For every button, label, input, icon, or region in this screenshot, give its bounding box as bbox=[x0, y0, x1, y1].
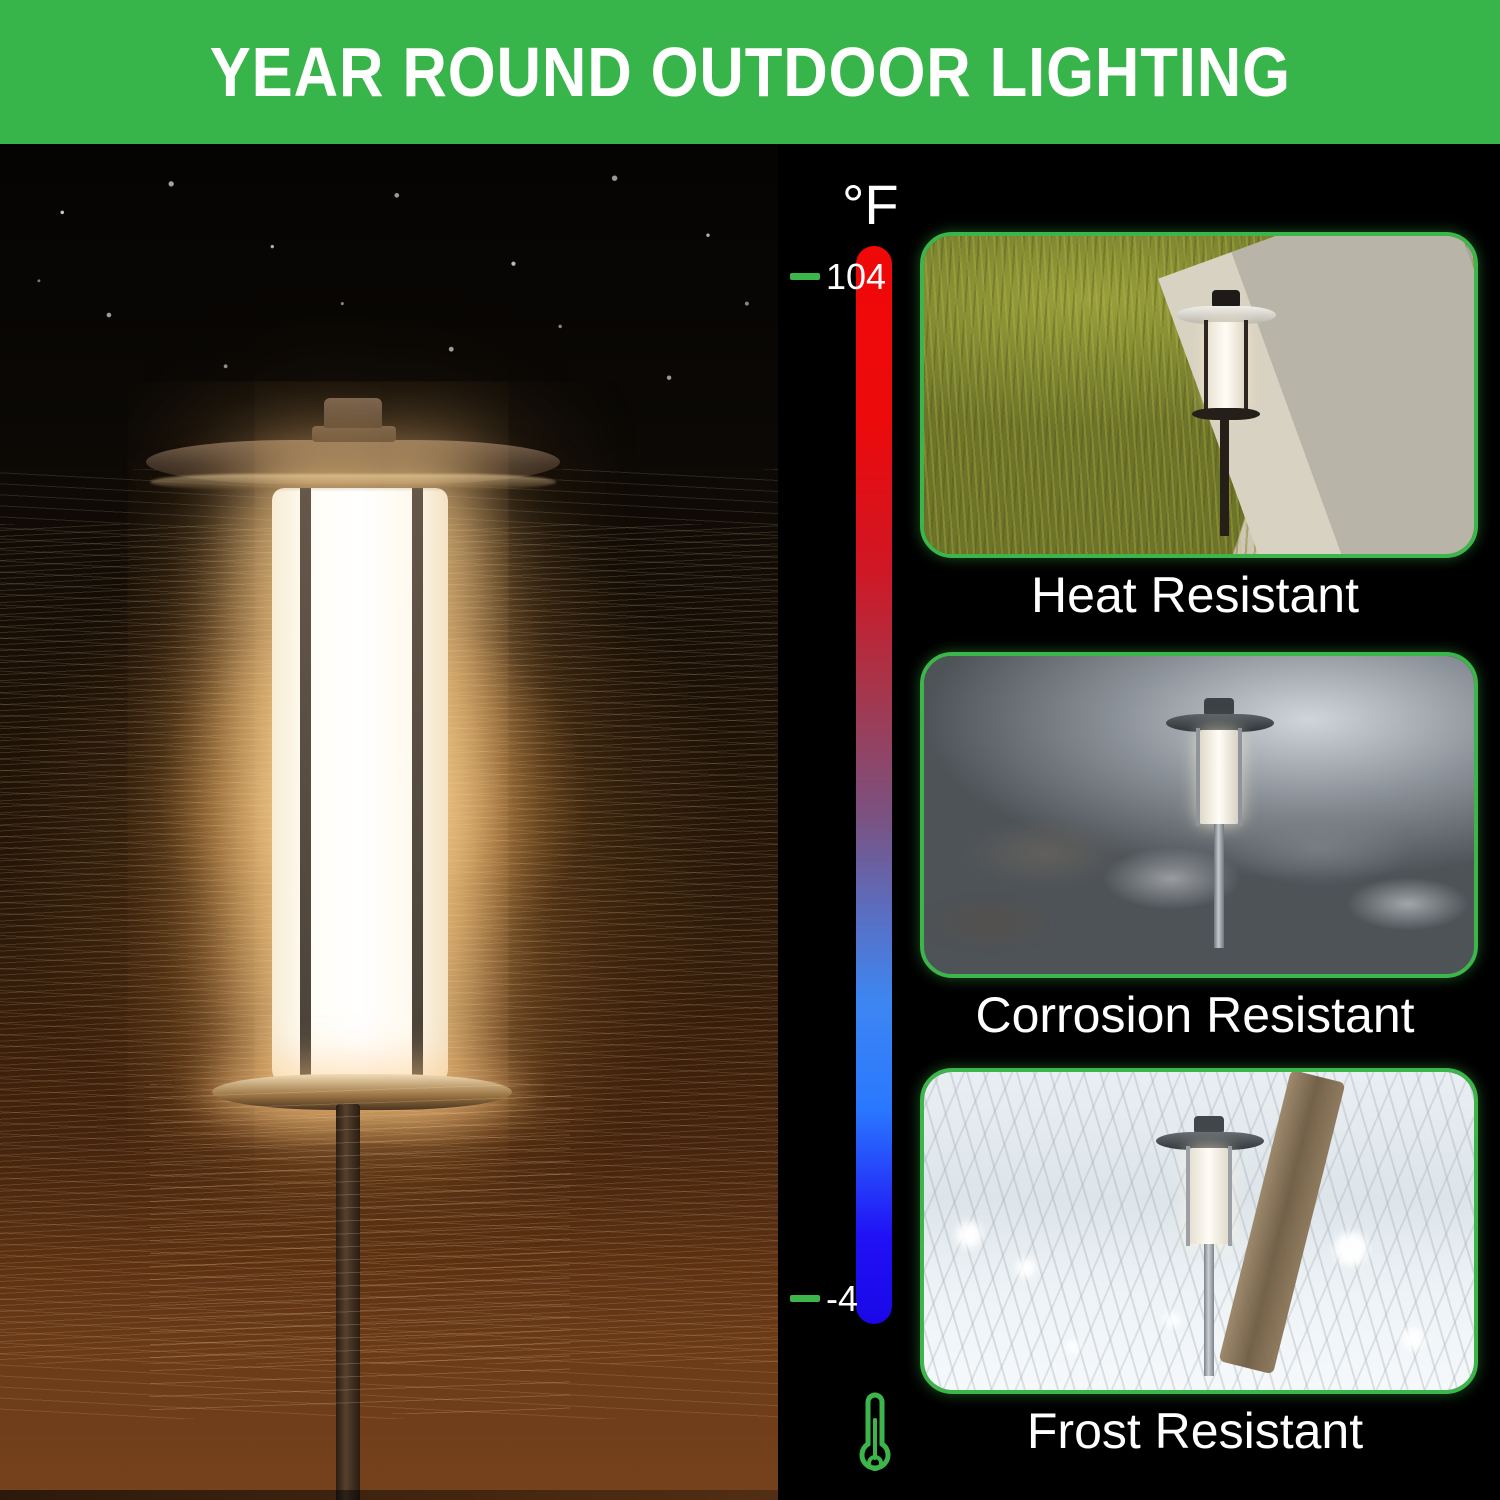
frost-scene-photo bbox=[924, 1072, 1474, 1390]
water-drips-overlay bbox=[150, 1084, 570, 1414]
snowflake bbox=[1334, 1232, 1368, 1266]
umbrella-rain-icon bbox=[38, 1492, 178, 1500]
thermometer-icon bbox=[852, 1392, 898, 1484]
product-infographic: YEAR ROUND OUTDOOR LIGHTING bbox=[0, 0, 1500, 1500]
temperature-gradient-bar bbox=[856, 246, 892, 1324]
lamp-shade-rim bbox=[150, 474, 556, 490]
pathway-light-fixture bbox=[1166, 290, 1286, 540]
feature-label-heat: Heat Resistant bbox=[920, 566, 1470, 624]
lamp-collar bbox=[312, 426, 396, 442]
pathway-light-fixture bbox=[1160, 698, 1280, 960]
max-temp-label: 104 bbox=[826, 256, 886, 298]
corrosion-scene-photo bbox=[924, 656, 1474, 974]
snowflake bbox=[1016, 1258, 1036, 1278]
pathway-light-fixture bbox=[1150, 1116, 1270, 1384]
snowflake bbox=[1402, 1328, 1424, 1350]
heat-scene-photo bbox=[924, 236, 1474, 554]
lamp-cage-bar-right bbox=[412, 488, 423, 1082]
feature-label-corrosion: Corrosion Resistant bbox=[920, 986, 1470, 1044]
max-temp-tick bbox=[790, 273, 820, 280]
header-banner: YEAR ROUND OUTDOOR LIGHTING bbox=[0, 0, 1500, 144]
lamp-cage-bar-left bbox=[300, 488, 311, 1082]
page-title: YEAR ROUND OUTDOOR LIGHTING bbox=[209, 32, 1290, 112]
snowflake bbox=[956, 1222, 982, 1248]
snowflake bbox=[1066, 1340, 1080, 1354]
feature-card-corrosion[interactable] bbox=[920, 652, 1478, 978]
min-temp-tick bbox=[790, 1295, 820, 1302]
temperature-unit-label: °F bbox=[842, 172, 899, 237]
hero-photo: IP65 Waterproof bbox=[0, 144, 778, 1500]
ip65-badge: IP65 Waterproof bbox=[0, 1490, 778, 1500]
feature-card-frost[interactable] bbox=[920, 1068, 1478, 1394]
min-temp-label: -4 bbox=[826, 1278, 858, 1320]
lamp-cap bbox=[324, 398, 382, 428]
feature-card-heat[interactable] bbox=[920, 232, 1478, 558]
feature-label-frost: Frost Resistant bbox=[920, 1402, 1470, 1460]
